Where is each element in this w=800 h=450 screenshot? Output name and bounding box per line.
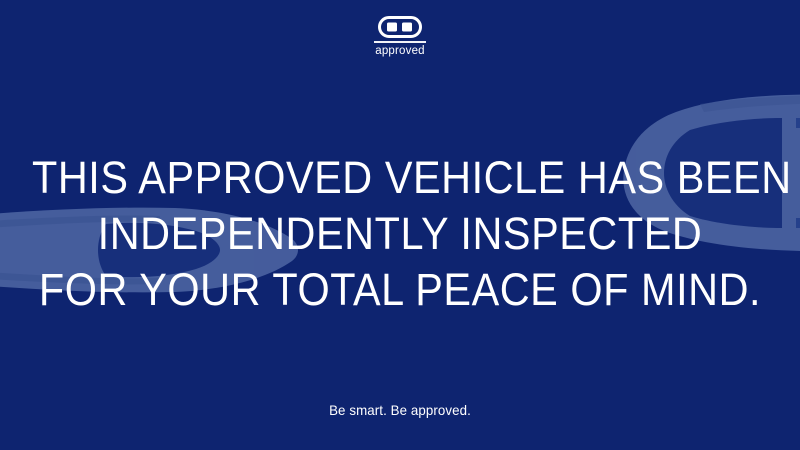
footer-tagline: Be smart. Be approved. — [20, 403, 780, 417]
brand-lockup: approved — [0, 16, 800, 58]
headline-line-1: THIS APPROVED VEHICLE HAS BEEN — [32, 150, 768, 206]
brand-wordmark: approved — [375, 46, 425, 58]
promo-slide: approved THIS APPROVED VEHICLE HAS BEEN … — [0, 0, 800, 450]
headline-line-2: INDEPENDENTLY INSPECTED — [32, 206, 768, 262]
headline-line-3: FOR YOUR TOTAL PEACE OF MIND. — [32, 262, 768, 318]
brand-divider-rule — [374, 41, 426, 43]
car-top-view-icon — [378, 16, 422, 38]
page-title: THIS APPROVED VEHICLE HAS BEEN INDEPENDE… — [0, 150, 800, 318]
